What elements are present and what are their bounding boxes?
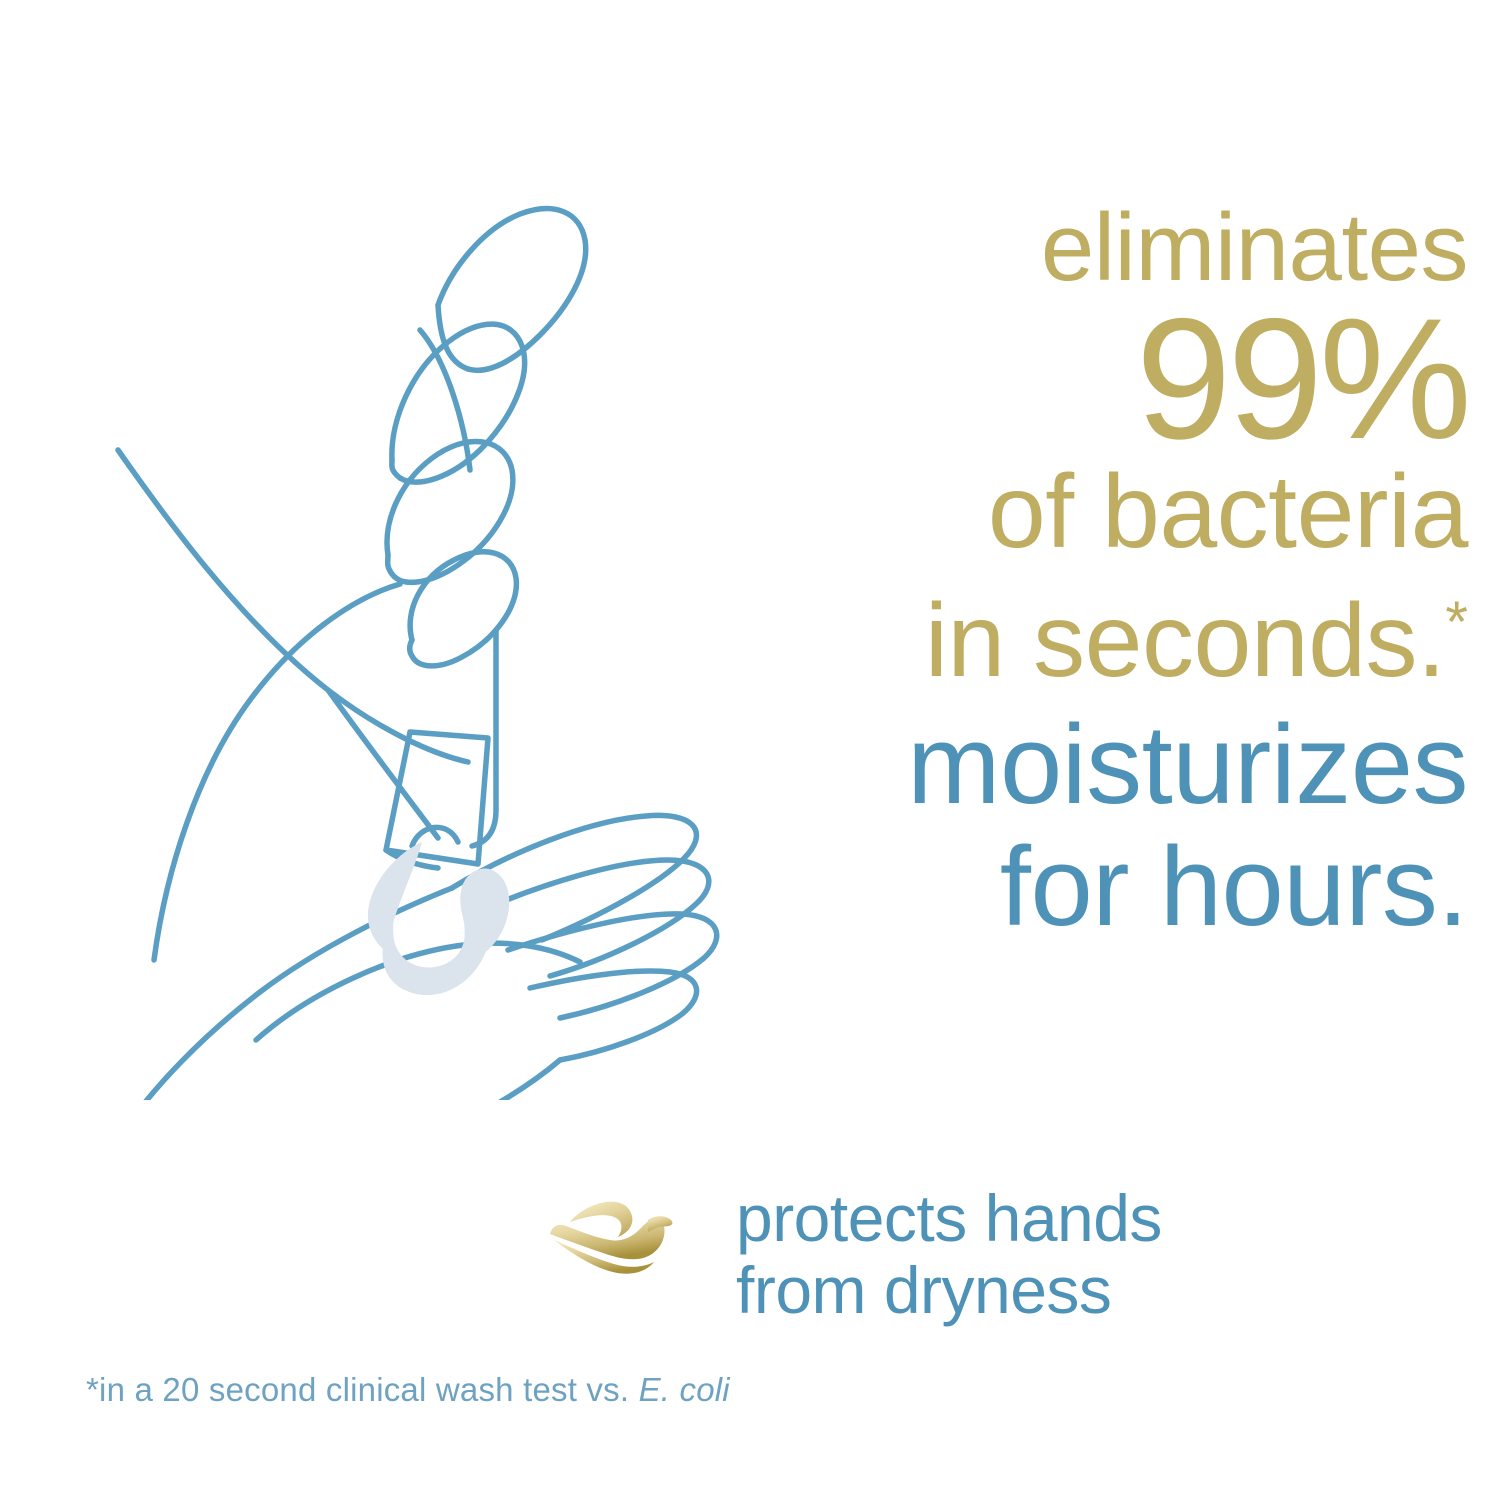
footnote-organism-name: E. coli <box>639 1371 730 1408</box>
headline-in-seconds-text: in seconds. <box>925 583 1446 699</box>
benefit-line-from-dryness: from dryness <box>736 1254 1260 1326</box>
footnote-text: *in a 20 second clinical wash test vs. <box>86 1371 639 1408</box>
footnote-disclaimer: *in a 20 second clinical wash test vs. E… <box>86 1371 730 1409</box>
headline-line-in-seconds: in seconds.* <box>560 564 1468 700</box>
headline-line-percentage: 99% <box>560 294 1468 464</box>
benefit-text: protects hands from dryness <box>736 1182 1260 1326</box>
headline-line-for-hours: for hours. <box>560 824 1468 950</box>
benefit-line-protects-hands: protects hands <box>736 1182 1260 1254</box>
promo-image-canvas: eliminates 99% of bacteria in seconds.* … <box>0 0 1500 1500</box>
footnote-asterisk-marker: * <box>1445 590 1468 655</box>
headline-block: eliminates 99% of bacteria in seconds.* … <box>560 196 1468 950</box>
benefit-block: protects hands from dryness <box>540 1182 1260 1352</box>
dove-logo-icon <box>544 1196 676 1288</box>
headline-line-of-bacteria: of bacteria <box>560 454 1468 570</box>
headline-line-moisturizes: moisturizes <box>560 702 1468 828</box>
